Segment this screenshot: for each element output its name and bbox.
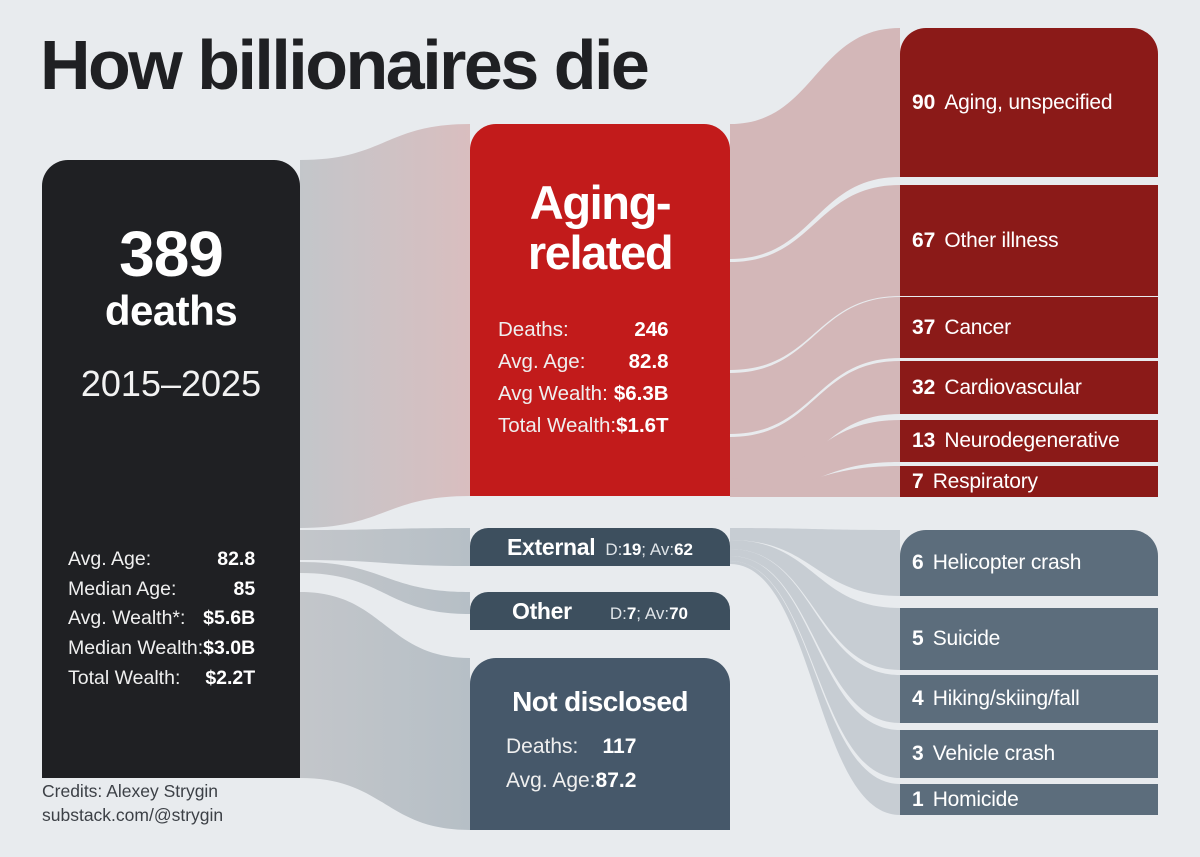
node-other-name: Other bbox=[512, 598, 572, 625]
leaf-label: Respiratory bbox=[933, 470, 1038, 494]
ribbon-external-to-hiking-skiing-fall bbox=[730, 549, 900, 723]
ribbon-aging-to-cardiovascular bbox=[730, 361, 900, 490]
leaf-label: Neurodegenerative bbox=[944, 429, 1119, 453]
total-deaths-label: deaths bbox=[42, 289, 300, 333]
leaf-other-illness[interactable]: 67 Other illness bbox=[900, 185, 1158, 296]
leaf-neurodegenerative[interactable]: 13 Neurodegenerative bbox=[900, 420, 1158, 462]
node-not-disclosed[interactable]: Not disclosed Deaths: 117 Avg. Age: 87.2 bbox=[470, 658, 730, 830]
leaf-count: 37 bbox=[912, 316, 935, 340]
aging-stats-table: Deaths: 246 Avg. Age: 82.8 Avg Wealth: $… bbox=[470, 314, 697, 442]
age-prefix: Av: bbox=[645, 604, 669, 623]
stat-value: $6.3B bbox=[614, 378, 669, 410]
ribbon-aging-to-respiratory bbox=[730, 466, 900, 497]
not-disclosed-stats-table: Deaths: 117 Avg. Age: 87.2 bbox=[470, 730, 672, 798]
age-prefix: Av: bbox=[650, 540, 674, 559]
deaths-value: 19 bbox=[622, 540, 641, 559]
leaf-suicide[interactable]: 5 Suicide bbox=[900, 608, 1158, 670]
stat-value: $5.6B bbox=[203, 604, 255, 634]
deaths-prefix: D: bbox=[605, 540, 622, 559]
leaf-label: Cardiovascular bbox=[944, 376, 1081, 400]
stat-label: Total Wealth: bbox=[68, 664, 180, 694]
page-title: How billionaires die bbox=[40, 30, 647, 100]
node-not-disclosed-title: Not disclosed bbox=[470, 686, 730, 718]
node-external-meta: D:19; Av:62 bbox=[605, 540, 693, 560]
leaf-vehicle-crash[interactable]: 3 Vehicle crash bbox=[900, 730, 1158, 778]
stat-label: Deaths: bbox=[506, 730, 578, 764]
ribbon-aging-to-cancer bbox=[730, 297, 900, 434]
stat-label: Deaths: bbox=[498, 314, 569, 346]
leaf-helicopter-crash[interactable]: 6 Helicopter crash bbox=[900, 530, 1158, 596]
age-value: 70 bbox=[669, 604, 688, 623]
leaf-label: Helicopter crash bbox=[933, 551, 1082, 575]
stat-row: Avg Wealth: $6.3B bbox=[498, 378, 669, 410]
stat-label: Total Wealth: bbox=[498, 410, 616, 442]
node-other[interactable]: Other D:7; Av:70 bbox=[470, 592, 730, 630]
infographic-canvas: How billionaires die 389 deaths 2015–202… bbox=[0, 0, 1200, 857]
stat-label: Avg. Age: bbox=[68, 545, 151, 575]
credits-link[interactable]: substack.com/@strygin bbox=[42, 804, 223, 828]
leaf-label: Aging, unspecified bbox=[944, 91, 1112, 115]
leaf-count: 7 bbox=[912, 470, 924, 494]
stat-row: Median Age: 85 bbox=[68, 575, 255, 605]
stat-row: Deaths: 117 bbox=[506, 730, 636, 764]
leaf-label: Homicide bbox=[933, 788, 1019, 812]
credits-author: Credits: Alexey Strygin bbox=[42, 780, 223, 804]
total-stats-table: Avg. Age: 82.8 Median Age: 85 Avg. Wealt… bbox=[42, 545, 281, 693]
stat-value: 117 bbox=[603, 730, 637, 764]
ribbon-external-to-homicide bbox=[730, 561, 900, 815]
node-external-name: External bbox=[507, 534, 595, 561]
stat-label: Median Age: bbox=[68, 575, 176, 605]
stat-value: 82.8 bbox=[629, 346, 669, 378]
leaf-count: 6 bbox=[912, 551, 924, 575]
node-aging-title-line-2: related bbox=[492, 228, 708, 278]
meta-separator: ; bbox=[636, 604, 645, 623]
node-external[interactable]: External D:19; Av:62 bbox=[470, 528, 730, 566]
stat-row: Avg. Age: 82.8 bbox=[68, 545, 255, 575]
deaths-prefix: D: bbox=[610, 604, 627, 623]
leaf-cancer[interactable]: 37 Cancer bbox=[900, 297, 1158, 358]
leaf-homicide[interactable]: 1 Homicide bbox=[900, 784, 1158, 815]
stat-label: Median Wealth: bbox=[68, 634, 203, 664]
stat-value: 82.8 bbox=[217, 545, 255, 575]
leaf-label: Other illness bbox=[944, 229, 1058, 253]
leaf-aging-unspecified[interactable]: 90 Aging, unspecified bbox=[900, 28, 1158, 177]
ribbon-total-to-aging bbox=[300, 124, 470, 528]
stat-value: $2.2T bbox=[205, 664, 255, 694]
leaf-count: 5 bbox=[912, 627, 924, 651]
ribbon-external-to-helicopter-crash bbox=[730, 528, 900, 596]
leaf-label: Vehicle crash bbox=[933, 742, 1055, 766]
stat-row: Total Wealth: $2.2T bbox=[68, 664, 255, 694]
stat-value: 246 bbox=[634, 314, 668, 346]
stat-row: Avg. Wealth*: $5.6B bbox=[68, 604, 255, 634]
stat-label: Avg. Wealth*: bbox=[68, 604, 185, 634]
leaf-count: 32 bbox=[912, 376, 935, 400]
ribbon-aging-to-aging-unspecified bbox=[730, 28, 900, 259]
stat-value: 87.2 bbox=[596, 764, 637, 798]
stat-value: $3.0B bbox=[203, 634, 255, 664]
stat-value: 85 bbox=[233, 575, 255, 605]
stat-label: Avg. Age: bbox=[506, 764, 596, 798]
stat-row: Median Wealth: $3.0B bbox=[68, 634, 255, 664]
total-deaths-period: 2015–2025 bbox=[42, 363, 300, 405]
leaf-respiratory[interactable]: 7 Respiratory bbox=[900, 466, 1158, 497]
stat-row: Total Wealth: $1.6T bbox=[498, 410, 669, 442]
leaf-count: 90 bbox=[912, 91, 935, 115]
stat-value: $1.6T bbox=[616, 410, 668, 442]
leaf-label: Hiking/skiing/fall bbox=[933, 687, 1080, 711]
leaf-cardiovascular[interactable]: 32 Cardiovascular bbox=[900, 361, 1158, 414]
total-deaths-count: 389 bbox=[42, 222, 300, 287]
leaf-count: 67 bbox=[912, 229, 935, 253]
stat-row: Avg. Age: 82.8 bbox=[498, 346, 669, 378]
ribbon-external-to-vehicle-crash bbox=[730, 556, 900, 778]
node-aging-related[interactable]: Aging- related Deaths: 246 Avg. Age: 82.… bbox=[470, 124, 730, 496]
ribbon-total-to-other bbox=[300, 562, 470, 614]
ribbon-total-to-not-disclosed bbox=[300, 592, 470, 830]
stat-row: Avg. Age: 87.2 bbox=[506, 764, 636, 798]
leaf-count: 4 bbox=[912, 687, 924, 711]
leaf-label: Cancer bbox=[944, 316, 1011, 340]
leaf-label: Suicide bbox=[933, 627, 1000, 651]
node-other-meta: D:7; Av:70 bbox=[610, 604, 688, 624]
ribbon-total-to-external bbox=[300, 528, 470, 566]
node-aging-title: Aging- related bbox=[470, 178, 730, 278]
ribbon-external-to-suicide bbox=[730, 540, 900, 670]
stat-row: Deaths: 246 bbox=[498, 314, 669, 346]
leaf-count: 1 bbox=[912, 788, 924, 812]
stat-label: Avg Wealth: bbox=[498, 378, 608, 410]
credits: Credits: Alexey Strygin substack.com/@st… bbox=[42, 780, 223, 827]
leaf-hiking-skiing-fall[interactable]: 4 Hiking/skiing/fall bbox=[900, 675, 1158, 723]
node-aging-title-line-1: Aging- bbox=[492, 178, 708, 228]
ribbon-aging-to-other-illness bbox=[730, 185, 900, 370]
age-value: 62 bbox=[674, 540, 693, 559]
meta-separator: ; bbox=[641, 540, 650, 559]
node-total-deaths[interactable]: 389 deaths 2015–2025 Avg. Age: 82.8 Medi… bbox=[42, 160, 300, 778]
leaf-count: 3 bbox=[912, 742, 924, 766]
stat-label: Avg. Age: bbox=[498, 346, 585, 378]
leaf-count: 13 bbox=[912, 429, 935, 453]
deaths-value: 7 bbox=[627, 604, 636, 623]
ribbon-aging-to-neurodegenerative bbox=[730, 420, 900, 497]
